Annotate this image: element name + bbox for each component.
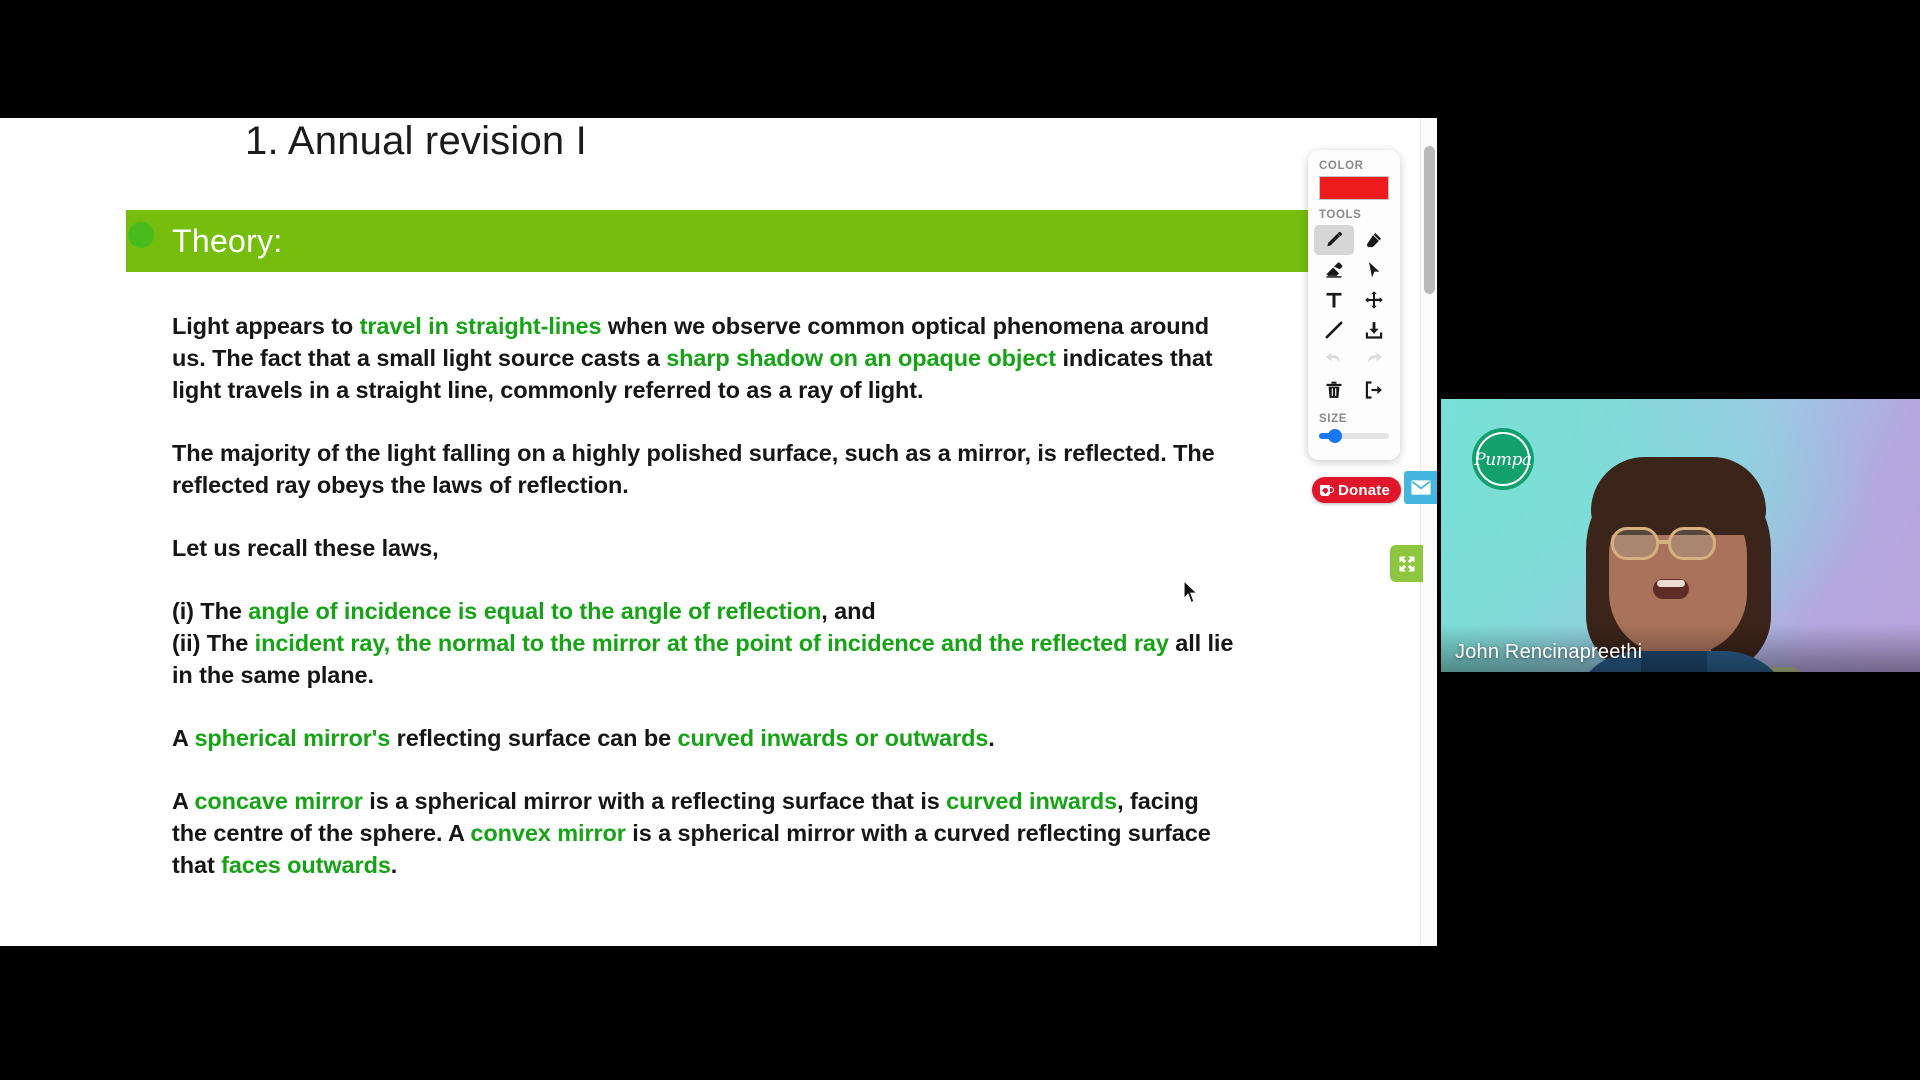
highlight-term: sharp shadow on an opaque object bbox=[666, 345, 1056, 371]
eraser-tool[interactable] bbox=[1314, 255, 1354, 285]
envelope-icon bbox=[1411, 480, 1431, 495]
lesson-page-content: 1. Annual revision I Theory: Light appea… bbox=[0, 118, 1437, 912]
donate-button[interactable]: Donate bbox=[1312, 477, 1401, 503]
text-run: . bbox=[391, 852, 397, 878]
mail-button[interactable] bbox=[1404, 471, 1437, 504]
exit-tool[interactable] bbox=[1354, 375, 1394, 405]
pumpa-logo: Pumpa bbox=[1472, 428, 1534, 490]
participant-teeth bbox=[1657, 580, 1685, 587]
pencil-tool[interactable] bbox=[1314, 225, 1354, 255]
text-run: A bbox=[172, 788, 194, 814]
donate-button-label: Donate bbox=[1338, 482, 1390, 499]
paragraph-concave-convex: A concave mirror is a spherical mirror w… bbox=[172, 785, 1237, 881]
highlighter-tool[interactable] bbox=[1354, 225, 1394, 255]
eyeglasses-bridge bbox=[1658, 540, 1670, 544]
pumpa-logo-text: Pumpa bbox=[1474, 450, 1532, 470]
text-run: , and bbox=[821, 598, 875, 624]
text-run: (ii) The bbox=[172, 630, 255, 656]
eyeglasses-right bbox=[1668, 527, 1716, 560]
paragraph-laws-list: (i) The angle of incidence is equal to t… bbox=[172, 595, 1237, 691]
current-color-swatch[interactable] bbox=[1319, 176, 1389, 200]
mouse-cursor-icon bbox=[1183, 580, 1201, 606]
text-run: A bbox=[172, 725, 194, 751]
participant-hair bbox=[1591, 457, 1766, 535]
bullet-dot-icon bbox=[128, 222, 154, 248]
size-slider-thumb[interactable] bbox=[1328, 429, 1342, 443]
select-tool[interactable] bbox=[1354, 255, 1394, 285]
page-scrollbar-thumb[interactable] bbox=[1424, 146, 1435, 294]
download-tool[interactable] bbox=[1354, 315, 1394, 345]
text-run: (i) The bbox=[172, 598, 248, 624]
page-title: 1. Annual revision I bbox=[0, 118, 1437, 164]
section-heading-band: Theory: bbox=[126, 210, 1311, 272]
paragraph-light-straight-lines: Light appears to travel in straight-line… bbox=[172, 310, 1237, 406]
highlight-term: faces outwards bbox=[221, 852, 391, 878]
drawing-toolbar: COLOR TOOLS bbox=[1308, 150, 1400, 460]
text-run: Light appears to bbox=[172, 313, 360, 339]
undo-tool[interactable] bbox=[1314, 345, 1354, 375]
highlight-term: travel in straight-lines bbox=[360, 313, 602, 339]
lesson-page-viewport: 1. Annual revision I Theory: Light appea… bbox=[0, 118, 1437, 946]
fullscreen-button[interactable] bbox=[1390, 545, 1423, 582]
delete-tool[interactable] bbox=[1314, 375, 1354, 405]
text-run: reflecting surface can be bbox=[390, 725, 677, 751]
tools-section-label: TOOLS bbox=[1308, 209, 1400, 221]
webcam-name-bar: John Rencinapreethi bbox=[1441, 624, 1920, 672]
highlight-term: concave mirror bbox=[194, 788, 362, 814]
move-tool[interactable] bbox=[1354, 285, 1394, 315]
expand-arrows-icon bbox=[1397, 554, 1417, 574]
paragraph-recall-laws: Let us recall these laws, bbox=[172, 532, 1237, 564]
text-tool[interactable] bbox=[1314, 285, 1354, 315]
highlight-term: angle of incidence is equal to the angle… bbox=[248, 598, 821, 624]
highlight-term: spherical mirror's bbox=[194, 725, 390, 751]
participant-name-label: John Rencinapreethi bbox=[1441, 641, 1642, 672]
redo-tool[interactable] bbox=[1354, 345, 1394, 375]
size-slider[interactable] bbox=[1319, 429, 1389, 443]
tool-grid bbox=[1308, 225, 1400, 405]
webcam-tile[interactable]: Pumpa John Rencinapreethi bbox=[1441, 399, 1920, 672]
text-run: is a spherical mirror with a reflecting … bbox=[363, 788, 946, 814]
line-tool[interactable] bbox=[1314, 315, 1354, 345]
page-scrollbar[interactable] bbox=[1420, 118, 1437, 946]
highlight-term: curved inwards bbox=[946, 788, 1117, 814]
highlight-term: convex mirror bbox=[470, 820, 625, 846]
eyeglasses-left bbox=[1611, 527, 1659, 560]
color-section-label: COLOR bbox=[1308, 160, 1400, 172]
coffee-cup-icon bbox=[1320, 485, 1333, 496]
highlight-term: incident ray, the normal to the mirror a… bbox=[255, 630, 1169, 656]
paragraph-spherical-mirror: A spherical mirror's reflecting surface … bbox=[172, 722, 1237, 754]
paragraph-reflection: The majority of the light falling on a h… bbox=[172, 437, 1237, 501]
size-section-label: SIZE bbox=[1308, 413, 1400, 425]
highlight-term: curved inwards or outwards bbox=[677, 725, 988, 751]
text-run: . bbox=[988, 725, 994, 751]
lesson-body: Light appears to travel in straight-line… bbox=[172, 272, 1311, 881]
screen-root: 1. Annual revision I Theory: Light appea… bbox=[0, 0, 1920, 1080]
